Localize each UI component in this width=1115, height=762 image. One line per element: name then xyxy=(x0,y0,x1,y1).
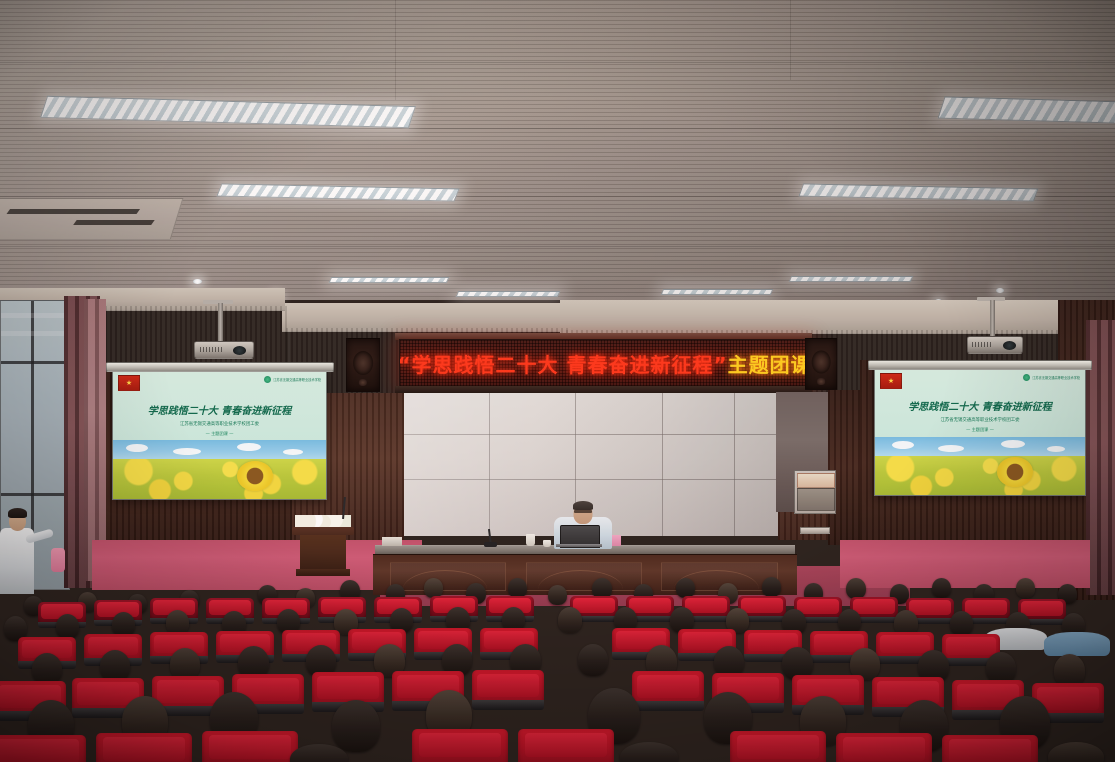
audience-head xyxy=(508,578,527,598)
audience-row xyxy=(0,0,1115,762)
audience-head xyxy=(578,644,608,676)
audience-head xyxy=(56,614,79,639)
audience-head xyxy=(1016,578,1035,598)
audience-head xyxy=(762,577,781,597)
audience-head xyxy=(620,742,678,762)
audience-shoulders xyxy=(1044,632,1110,656)
theater-seat xyxy=(942,735,1038,762)
audience-head xyxy=(558,607,582,633)
audience-head xyxy=(932,578,951,598)
projection-screen-case xyxy=(106,362,334,372)
theater-seat xyxy=(518,729,614,762)
theater-seat xyxy=(202,731,298,762)
theater-seat xyxy=(412,729,508,762)
projection-screen-case xyxy=(868,360,1092,370)
theater-seat xyxy=(730,731,826,762)
theater-seat xyxy=(836,733,932,762)
theater-seat xyxy=(632,671,704,709)
audience-head xyxy=(548,585,567,605)
audience-head xyxy=(1048,742,1104,762)
audience-head xyxy=(332,700,380,752)
theater-seat xyxy=(0,735,86,762)
audience-head xyxy=(950,611,973,636)
audience-head xyxy=(424,578,443,598)
theater-seat xyxy=(472,670,544,708)
theater-seat xyxy=(96,733,192,762)
audience-head xyxy=(846,578,866,599)
auditorium-scene: “学思践悟二十大 青春奋进新征程”主题团课 xyxy=(0,0,1115,762)
audience-head xyxy=(676,578,695,598)
